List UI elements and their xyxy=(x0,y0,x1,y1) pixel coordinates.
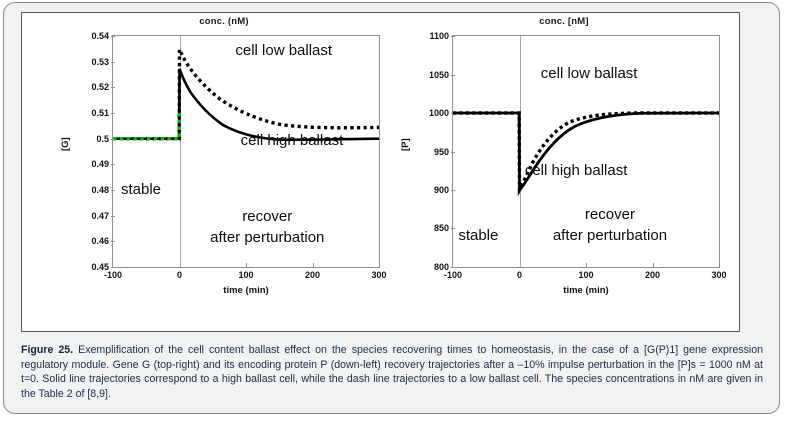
y-tick: 0.48 xyxy=(91,185,109,195)
x-tick: 300 xyxy=(711,270,726,280)
x-tick: 200 xyxy=(305,270,320,280)
y-tick: 900 xyxy=(434,185,449,195)
x-axis-label-left: time (min) xyxy=(112,285,380,296)
y-tick: 0.5 xyxy=(96,134,109,144)
y-tick: 0.51 xyxy=(91,108,109,118)
y-tick: 850 xyxy=(434,223,449,233)
y-tick: 0.47 xyxy=(91,211,109,221)
y-axis-label-right: [P] xyxy=(400,138,411,151)
y-tick: 0.54 xyxy=(91,31,109,41)
curve-cell-low-ballast xyxy=(113,49,379,138)
annotation-after-perturbation: after perturbation xyxy=(553,228,667,244)
chart-title-left: conc. (nM) xyxy=(54,16,394,27)
figure-card: conc. (nM) [G] 0.45 0.46 0.47 0.48 0.49 … xyxy=(3,2,780,414)
figure-caption: Figure 25. Exemplification of the cell c… xyxy=(21,343,763,401)
x-tick: -100 xyxy=(444,270,462,280)
figure-panel: conc. (nM) [G] 0.45 0.46 0.47 0.48 0.49 … xyxy=(21,12,740,332)
y-tick: 0.46 xyxy=(91,236,109,246)
curve-steady-state-marker xyxy=(113,112,179,139)
chart-protein-p: conc. [nM] [P] 800 850 900 950 1000 1050… xyxy=(394,13,734,333)
annotation-recover: recover xyxy=(585,207,635,223)
plot-area-right: 800 850 900 950 1000 1050 1100 -100 0 10… xyxy=(452,35,720,268)
annotation-stable: stable xyxy=(121,182,161,198)
annotation-cell-low-ballast: cell low ballast xyxy=(541,66,638,82)
chart-gene-g: conc. (nM) [G] 0.45 0.46 0.47 0.48 0.49 … xyxy=(54,13,394,333)
x-tick: 300 xyxy=(371,270,386,280)
annotation-stable: stable xyxy=(458,228,498,244)
y-axis-label-left: [G] xyxy=(60,137,71,151)
y-tick: 1100 xyxy=(429,31,449,41)
x-tick: 0 xyxy=(517,270,522,280)
plot-area-left: 0.45 0.46 0.47 0.48 0.49 0.5 0.51 0.52 0… xyxy=(112,35,380,268)
y-tick: 1000 xyxy=(429,108,449,118)
x-tick: -100 xyxy=(104,270,122,280)
figure-caption-text: Exemplification of the cell content ball… xyxy=(21,344,763,400)
x-tick: 200 xyxy=(645,270,660,280)
x-tick: 100 xyxy=(578,270,593,280)
y-tick: 950 xyxy=(434,147,449,157)
annotation-cell-high-ballast: cell high ballast xyxy=(525,163,628,179)
chart-title-right: conc. [nM] xyxy=(394,16,734,27)
annotation-recover: recover xyxy=(242,209,292,225)
figure-caption-label: Figure 25. xyxy=(21,344,73,356)
annotation-after-perturbation: after perturbation xyxy=(210,230,324,246)
y-tick: 1050 xyxy=(429,70,449,80)
x-tick: 100 xyxy=(238,270,253,280)
y-tick: 0.53 xyxy=(91,57,109,67)
y-tick: 0.49 xyxy=(91,159,109,169)
annotation-cell-high-ballast: cell high ballast xyxy=(241,133,344,149)
annotation-cell-low-ballast: cell low ballast xyxy=(235,43,332,59)
x-tick: 0 xyxy=(177,270,182,280)
y-tick: 0.52 xyxy=(91,82,109,92)
x-axis-label-right: time (min) xyxy=(452,285,720,296)
